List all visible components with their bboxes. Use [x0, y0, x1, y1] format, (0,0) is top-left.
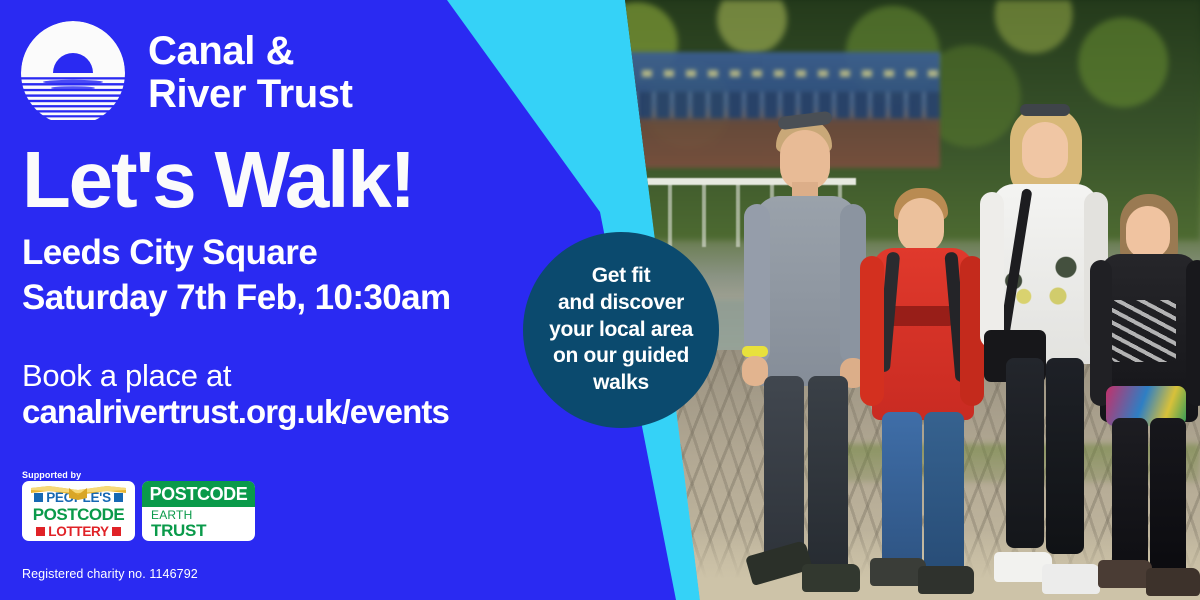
page-title: Let's Walk! — [22, 140, 414, 220]
lottery-row-lottery: LOTTERY — [25, 524, 132, 539]
cta-url-link[interactable]: canalrivertrust.org.uk/events — [22, 393, 449, 431]
cta-label: Book a place at — [22, 358, 231, 394]
badge-line-1: Get fit — [549, 263, 693, 290]
badge-line-5: walks — [549, 370, 693, 397]
earth-trust-body: EARTH TRUST — [142, 507, 255, 541]
red-square-icon — [112, 527, 121, 536]
event-promo-banner: Canal & River Trust Let's Walk! Leeds Ci… — [0, 0, 1200, 600]
earth-trust-line-2: TRUST — [151, 522, 255, 539]
lottery-line-2: POSTCODE — [33, 506, 124, 523]
badge-line-3: your local area — [549, 317, 693, 344]
badge-text: Get fit and discover your local area on … — [543, 263, 699, 397]
brand-name-line2: River Trust — [148, 73, 353, 116]
badge-line-4: on our guided — [549, 343, 693, 370]
postcode-earth-trust-logo: POSTCODE EARTH TRUST — [142, 481, 255, 541]
charity-registration: Registered charity no. 1146792 — [22, 567, 198, 581]
status-badge: Get fit and discover your local area on … — [523, 232, 719, 428]
event-location: Leeds City Square — [22, 233, 317, 273]
gold-ribbon-icon — [29, 484, 128, 500]
brand-name-line1: Canal & — [148, 30, 353, 73]
red-square-icon — [36, 527, 45, 536]
sponsor-logos: PEOPLE'S POSTCODE LOTTERY POSTCODE EARTH… — [22, 481, 255, 541]
lottery-line-3: LOTTERY — [48, 524, 108, 539]
badge-line-2: and discover — [549, 290, 693, 317]
brand-name: Canal & River Trust — [148, 30, 353, 116]
canal-river-trust-logo-icon — [20, 20, 126, 126]
supported-by-label: Supported by — [22, 470, 81, 480]
person-boy — [860, 130, 985, 600]
brand-logo: Canal & River Trust — [20, 20, 353, 126]
person-man — [740, 100, 870, 600]
earth-trust-header: POSTCODE — [142, 481, 255, 507]
peoples-postcode-lottery-logo: PEOPLE'S POSTCODE LOTTERY — [22, 481, 135, 541]
event-datetime: Saturday 7th Feb, 10:30am — [22, 278, 451, 318]
sunglasses-icon — [1020, 104, 1070, 116]
person-girl — [1090, 130, 1200, 600]
lottery-row-postcode: POSTCODE — [25, 506, 132, 523]
